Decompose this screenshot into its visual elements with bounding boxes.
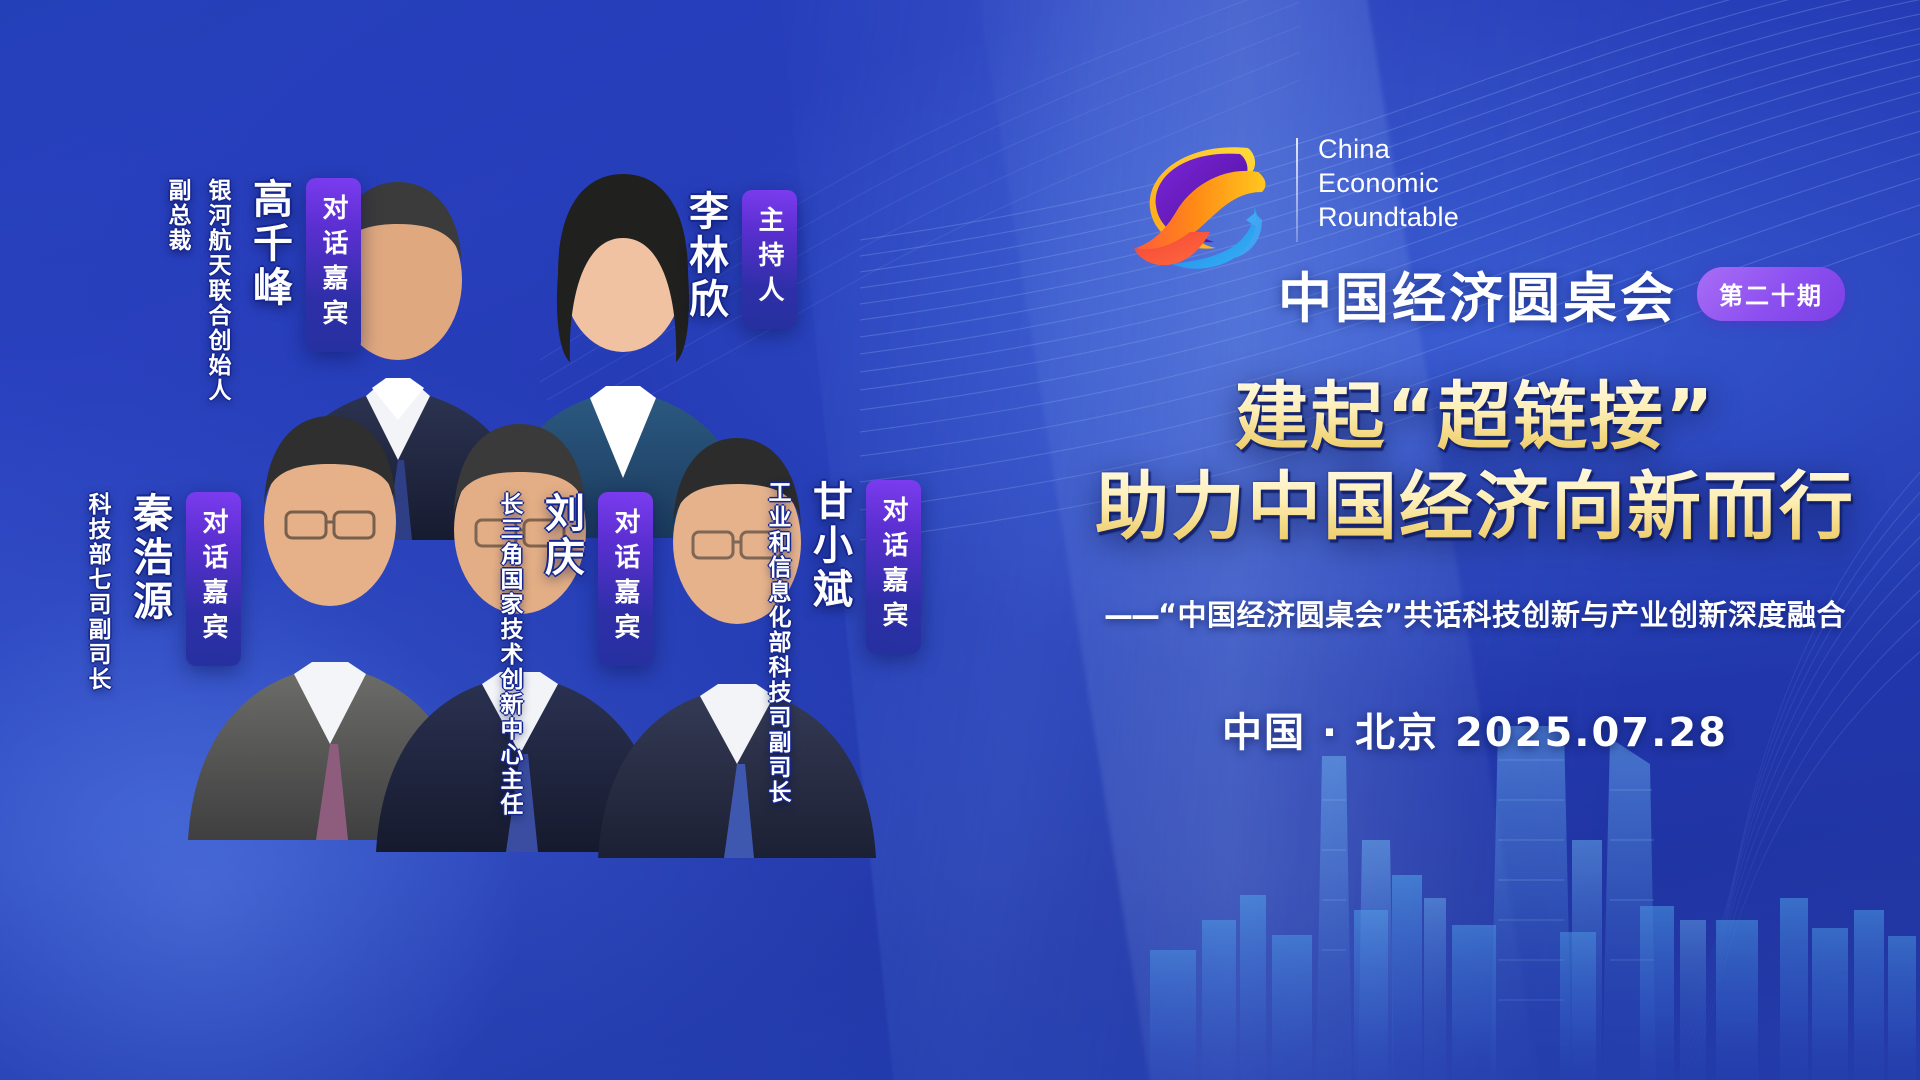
brand-en-text-wrap: China Economic Roundtable [1296,128,1459,242]
person-label-gan-xiaobin: 工业和信息化部科技司副司长 甘小斌 对话嘉宾 [760,480,921,805]
logo-divider [1296,138,1298,242]
person-label-li-linxin: 李林欣 主持人 [676,190,797,329]
china-economic-roundtable-logo-icon [1130,128,1282,280]
brand-en-lines: China Economic Roundtable [1318,132,1459,234]
person-title-line1: 银河航天联合创始人 [200,178,234,403]
person-name: 高千峰 [240,178,298,310]
person-name: 刘庆 [532,492,590,580]
headline-line-1: 建起“超链接” [1080,378,1870,458]
role-badge: 对话嘉宾 [186,492,241,666]
role-badge: 对话嘉宾 [598,492,653,666]
issue-number-badge: 第二十期 [1697,267,1845,321]
bottom-haze [0,870,1920,1080]
person-label-liu-qing: 长三角国家技术创新中心主任 刘庆 对话嘉宾 [492,492,653,817]
brand-en-line-1: China [1318,132,1459,166]
person-label-qin-haoyuan: 科技部七司副司长 秦浩源 对话嘉宾 [80,492,241,692]
role-badge: 主持人 [742,190,797,329]
headline-block: 建起“超链接” 助力中国经济向新而行 [1080,378,1870,549]
city-skyline-icon [1140,720,1920,1080]
subtitle-line: ——“中国经济圆桌会”共话科技创新与产业创新深度融合 [1060,592,1890,634]
headline-line-2: 助力中国经济向新而行 [1080,466,1870,549]
subtitle-text: “中国经济圆桌会”共话科技创新与产业创新深度融合 [1158,598,1846,632]
person-title-line1: 工业和信息化部科技司副司长 [760,480,794,805]
date-location-line: 中国 · 北京 2025.07.28 [1060,700,1890,758]
poster-canvas: 副总裁 银河航天联合创始人 高千峰 对话嘉宾 李林欣 主持人 科技部七司副司长 … [0,0,1920,1080]
brand-en-line-3: Roundtable [1318,200,1459,234]
person-name: 李林欣 [676,190,734,322]
brand-en-line-2: Economic [1318,166,1459,200]
role-badge: 对话嘉宾 [306,178,361,352]
role-badge: 对话嘉宾 [866,480,921,654]
person-label-gao-qianfeng: 副总裁 银河航天联合创始人 高千峰 对话嘉宾 [160,178,361,403]
brand-cn-row: 中国经济圆桌会 第二十期 [1278,254,1845,333]
subtitle-dash: —— [1104,598,1158,632]
brand-cn-name: 中国经济圆桌会 [1278,254,1677,333]
person-title-line1: 科技部七司副司长 [80,492,114,692]
person-title-line2: 副总裁 [160,178,194,253]
person-title-line1: 长三角国家技术创新中心主任 [492,492,526,817]
person-name: 秦浩源 [120,492,178,624]
person-name: 甘小斌 [800,480,858,612]
